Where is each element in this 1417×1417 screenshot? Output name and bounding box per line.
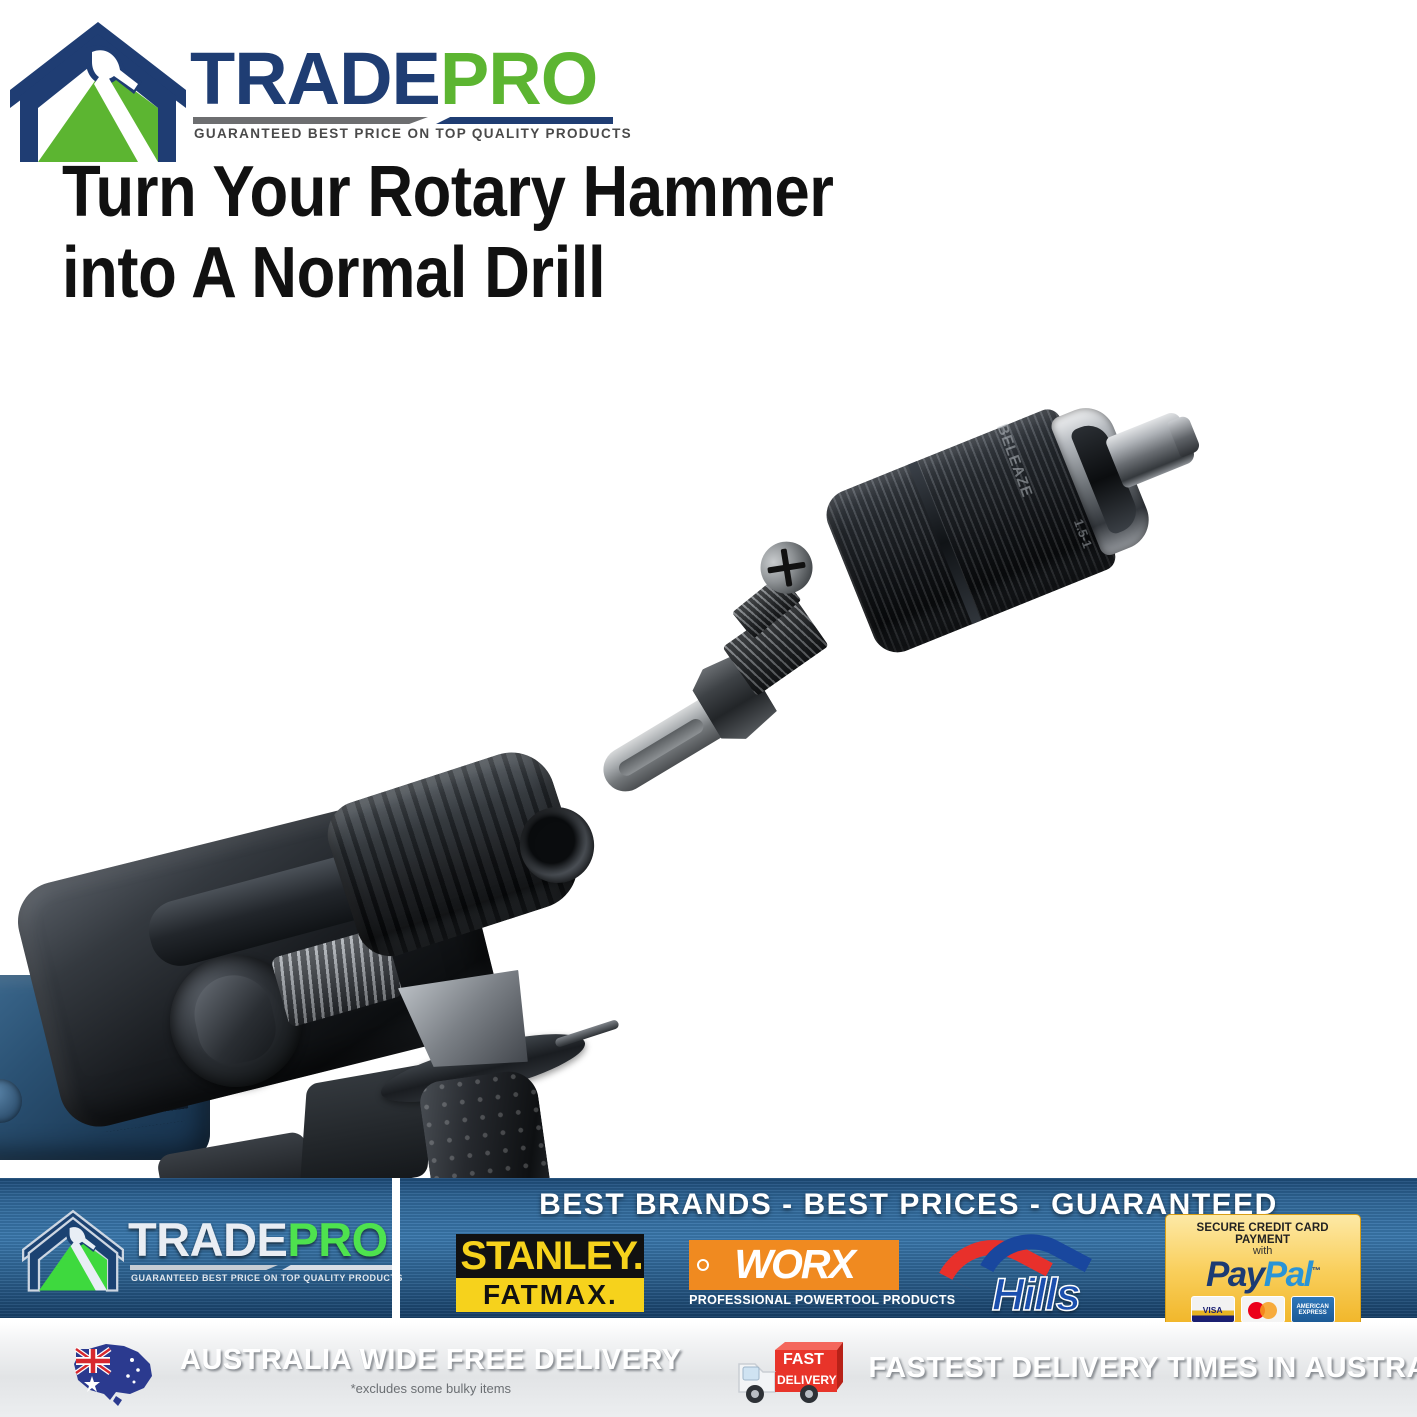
paypal-pay-text: Pay: [1206, 1255, 1264, 1294]
title-line-1: Turn Your Rotary Hammer: [62, 152, 1030, 233]
hills-text: Hills: [992, 1269, 1080, 1321]
worx-subtitle: PROFESSIONAL POWERTOOL PRODUCTS: [689, 1293, 899, 1307]
banner-logo-text-trade: TRADE: [128, 1213, 287, 1266]
tradepro-house-hammer-logo: [22, 1198, 124, 1298]
delivery-right-title: FASTEST DELIVERY TIMES IN AUSTRALIA: [869, 1352, 1417, 1385]
amex-card-icon: AMERICAN EXPRESS: [1291, 1296, 1335, 1323]
stanley-text: STANLEY.: [456, 1234, 644, 1278]
svg-text:FAST: FAST: [783, 1351, 824, 1368]
tradepro-house-hammer-logo: [8, 12, 188, 162]
paypal-secure-payment-badge: SECURE CREDIT CARD PAYMENT with PayPal™ …: [1165, 1214, 1361, 1332]
logo-divider-bars: [193, 116, 613, 125]
banner-divider: [392, 1178, 400, 1318]
banner-logo-panel: TRADEPRO GUARANTEED BEST PRICE ON TOP QU…: [0, 1178, 392, 1318]
logo-tagline: GUARANTEED BEST PRICE ON TOP QUALITY PRO…: [194, 126, 632, 141]
banner-logo-tagline: GUARANTEED BEST PRICE ON TOP QUALITY PRO…: [131, 1273, 403, 1283]
title-line-2: into A Normal Drill: [62, 233, 1030, 314]
header: TRADEPRO GUARANTEED BEST PRICE ON TOP QU…: [0, 0, 1417, 150]
tradepro-wordmark: TRADEPRO: [190, 42, 597, 116]
banner-logo-divider-bars: [130, 1264, 392, 1271]
logo-text-trade: TRADE: [190, 37, 440, 120]
logo-text-pro: PRO: [440, 37, 597, 120]
delivery-left: AUSTRALIA WIDE FREE DELIVERY *excludes s…: [0, 1322, 709, 1417]
svg-text:DELIVERY: DELIVERY: [777, 1373, 837, 1387]
sds-rotary-hammer-drill: [0, 745, 700, 1185]
paypal-wordmark: PayPal™: [1206, 1257, 1319, 1292]
worx-logo: WORX PROFESSIONAL POWERTOOL PRODUCTS: [689, 1240, 899, 1307]
banner-logo-text-pro: PRO: [287, 1213, 387, 1266]
visa-card-icon: VISA: [1191, 1296, 1235, 1323]
delivery-left-subtitle: *excludes some bulky items: [180, 1381, 682, 1396]
worx-dot-icon: [697, 1259, 709, 1271]
product-listing-image: TRADEPRO GUARANTEED BEST PRICE ON TOP QU…: [0, 0, 1417, 1417]
page-title: Turn Your Rotary Hammer into A Normal Dr…: [62, 152, 1030, 313]
delivery-right: FAST DELIVERY FASTEST DELIVERY TIMES IN …: [709, 1322, 1417, 1417]
delivery-left-title: AUSTRALIA WIDE FREE DELIVERY: [180, 1344, 682, 1377]
paypal-trademark: ™: [1312, 1265, 1320, 1275]
paypal-pal-text: Pal: [1264, 1255, 1312, 1294]
australia-map-flag-icon: [58, 1336, 162, 1408]
fast-delivery-truck-icon: FAST DELIVERY: [731, 1338, 853, 1406]
mastercard-card-icon: [1241, 1296, 1285, 1323]
accepted-cards: VISA AMERICAN EXPRESS: [1175, 1296, 1351, 1323]
banner-tradepro-wordmark: TRADEPRO: [128, 1216, 388, 1263]
fatmax-text: FATMAX.: [456, 1278, 644, 1312]
stanley-fatmax-logo: STANLEY. FATMAX.: [456, 1234, 644, 1312]
paypal-line-1: SECURE CREDIT CARD PAYMENT: [1175, 1222, 1351, 1246]
brand-banner: TRADEPRO GUARANTEED BEST PRICE ON TOP QU…: [0, 1178, 1417, 1318]
worx-text: WORX: [734, 1241, 854, 1288]
hills-logo: Hills: [944, 1231, 1120, 1315]
banner-brands-panel: BEST BRANDS - BEST PRICES - GUARANTEED S…: [400, 1178, 1417, 1318]
delivery-strip: AUSTRALIA WIDE FREE DELIVERY *excludes s…: [0, 1322, 1417, 1417]
brand-logo-row: STANLEY. FATMAX. WORX PROFESSIONAL POWER…: [400, 1230, 1417, 1316]
